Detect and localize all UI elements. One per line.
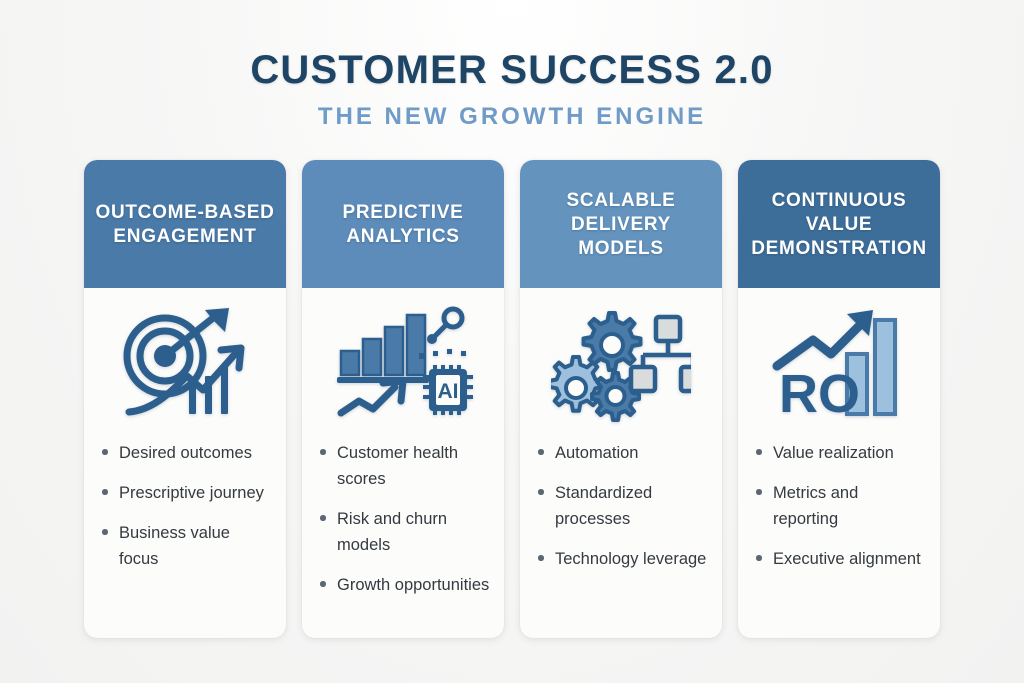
list-item: Standardized processes [538,480,708,532]
infographic-page: CUSTOMER SUCCESS 2.0 THE NEW GROWTH ENGI… [0,0,1024,683]
bullet-text: Customer health scores [337,444,458,488]
bullet-text: Risk and churn models [337,510,447,554]
card-header-2: PREDICTIVE ANALYTICS [302,160,504,288]
card-title-3: SCALABLE DELIVERY MODELS [530,189,712,262]
list-item: Risk and churn models [320,506,490,558]
bullet-list-1: Desired outcomes Prescriptive journey Bu… [84,440,286,590]
card-predictive-analytics[interactable]: PREDICTIVE ANALYTICS [302,160,504,638]
list-item: Prescriptive journey [102,480,272,506]
page-title: CUSTOMER SUCCESS 2.0 [0,48,1024,93]
bullet-text: Desired outcomes [119,444,252,462]
bullet-text: Metrics and reporting [773,484,858,528]
bullet-text: Business value focus [119,524,230,568]
card-outcome-based-engagement[interactable]: OUTCOME-BASED ENGAGEMENT [84,160,286,638]
bullet-list-3: Automation Standardized processes Techno… [520,440,722,590]
bullet-text: Executive alignment [773,550,921,568]
list-item: Executive alignment [756,546,926,572]
card-body-4: RO Value realization Metrics and reporti… [738,288,940,638]
card-body-2: AI Customer health scores Risk and churn… [302,288,504,638]
card-body-3: Automation Standardized processes Techno… [520,288,722,638]
svg-text:RO: RO [779,364,860,420]
card-scalable-delivery-models[interactable]: SCALABLE DELIVERY MODELS [520,160,722,638]
list-item: Value realization [756,440,926,466]
bullet-dot-icon [102,489,108,495]
bullet-dot-icon [320,581,326,587]
card-title-1: OUTCOME-BASED ENGAGEMENT [94,201,276,250]
cards-row: OUTCOME-BASED ENGAGEMENT [0,160,1024,638]
roi-growth-arrow-icon: RO [738,288,940,440]
list-item: Business value focus [102,520,272,572]
list-item: Desired outcomes [102,440,272,466]
bullet-dot-icon [538,555,544,561]
bullet-dot-icon [538,449,544,455]
header-block: CUSTOMER SUCCESS 2.0 THE NEW GROWTH ENGI… [0,0,1024,130]
bullet-dot-icon [756,555,762,561]
bullet-text: Prescriptive journey [119,484,264,502]
bullet-dot-icon [102,529,108,535]
bullet-dot-icon [756,489,762,495]
card-title-2: PREDICTIVE ANALYTICS [312,201,494,250]
bullet-text: Technology leverage [555,550,706,568]
card-body-1: Desired outcomes Prescriptive journey Bu… [84,288,286,638]
bullet-dot-icon [320,515,326,521]
card-title-4: CONTINUOUS VALUE DEMONSTRATION [748,189,930,262]
bullet-dot-icon [102,449,108,455]
target-arrow-growth-chart-icon [84,288,286,440]
card-header-1: OUTCOME-BASED ENGAGEMENT [84,160,286,288]
card-header-3: SCALABLE DELIVERY MODELS [520,160,722,288]
bullet-text: Standardized processes [555,484,652,528]
card-continuous-value-demonstration[interactable]: CONTINUOUS VALUE DEMONSTRATION RO [738,160,940,638]
svg-text:AI: AI [438,380,459,403]
page-subtitle: THE NEW GROWTH ENGINE [0,104,1024,130]
bullet-text: Automation [555,444,638,462]
bullet-text: Value realization [773,444,894,462]
bullet-list-4: Value realization Metrics and reporting … [738,440,940,590]
bar-chart-ai-chip-icon: AI [302,288,504,440]
gears-hierarchy-icon [520,288,722,440]
list-item: Technology leverage [538,546,708,572]
list-item: Automation [538,440,708,466]
bullet-dot-icon [320,449,326,455]
bullet-dot-icon [538,489,544,495]
bullet-text: Growth opportunities [337,576,489,594]
card-header-4: CONTINUOUS VALUE DEMONSTRATION [738,160,940,288]
bullet-list-2: Customer health scores Risk and churn mo… [302,440,504,616]
list-item: Customer health scores [320,440,490,492]
bullet-dot-icon [756,449,762,455]
list-item: Growth opportunities [320,572,490,598]
list-item: Metrics and reporting [756,480,926,532]
